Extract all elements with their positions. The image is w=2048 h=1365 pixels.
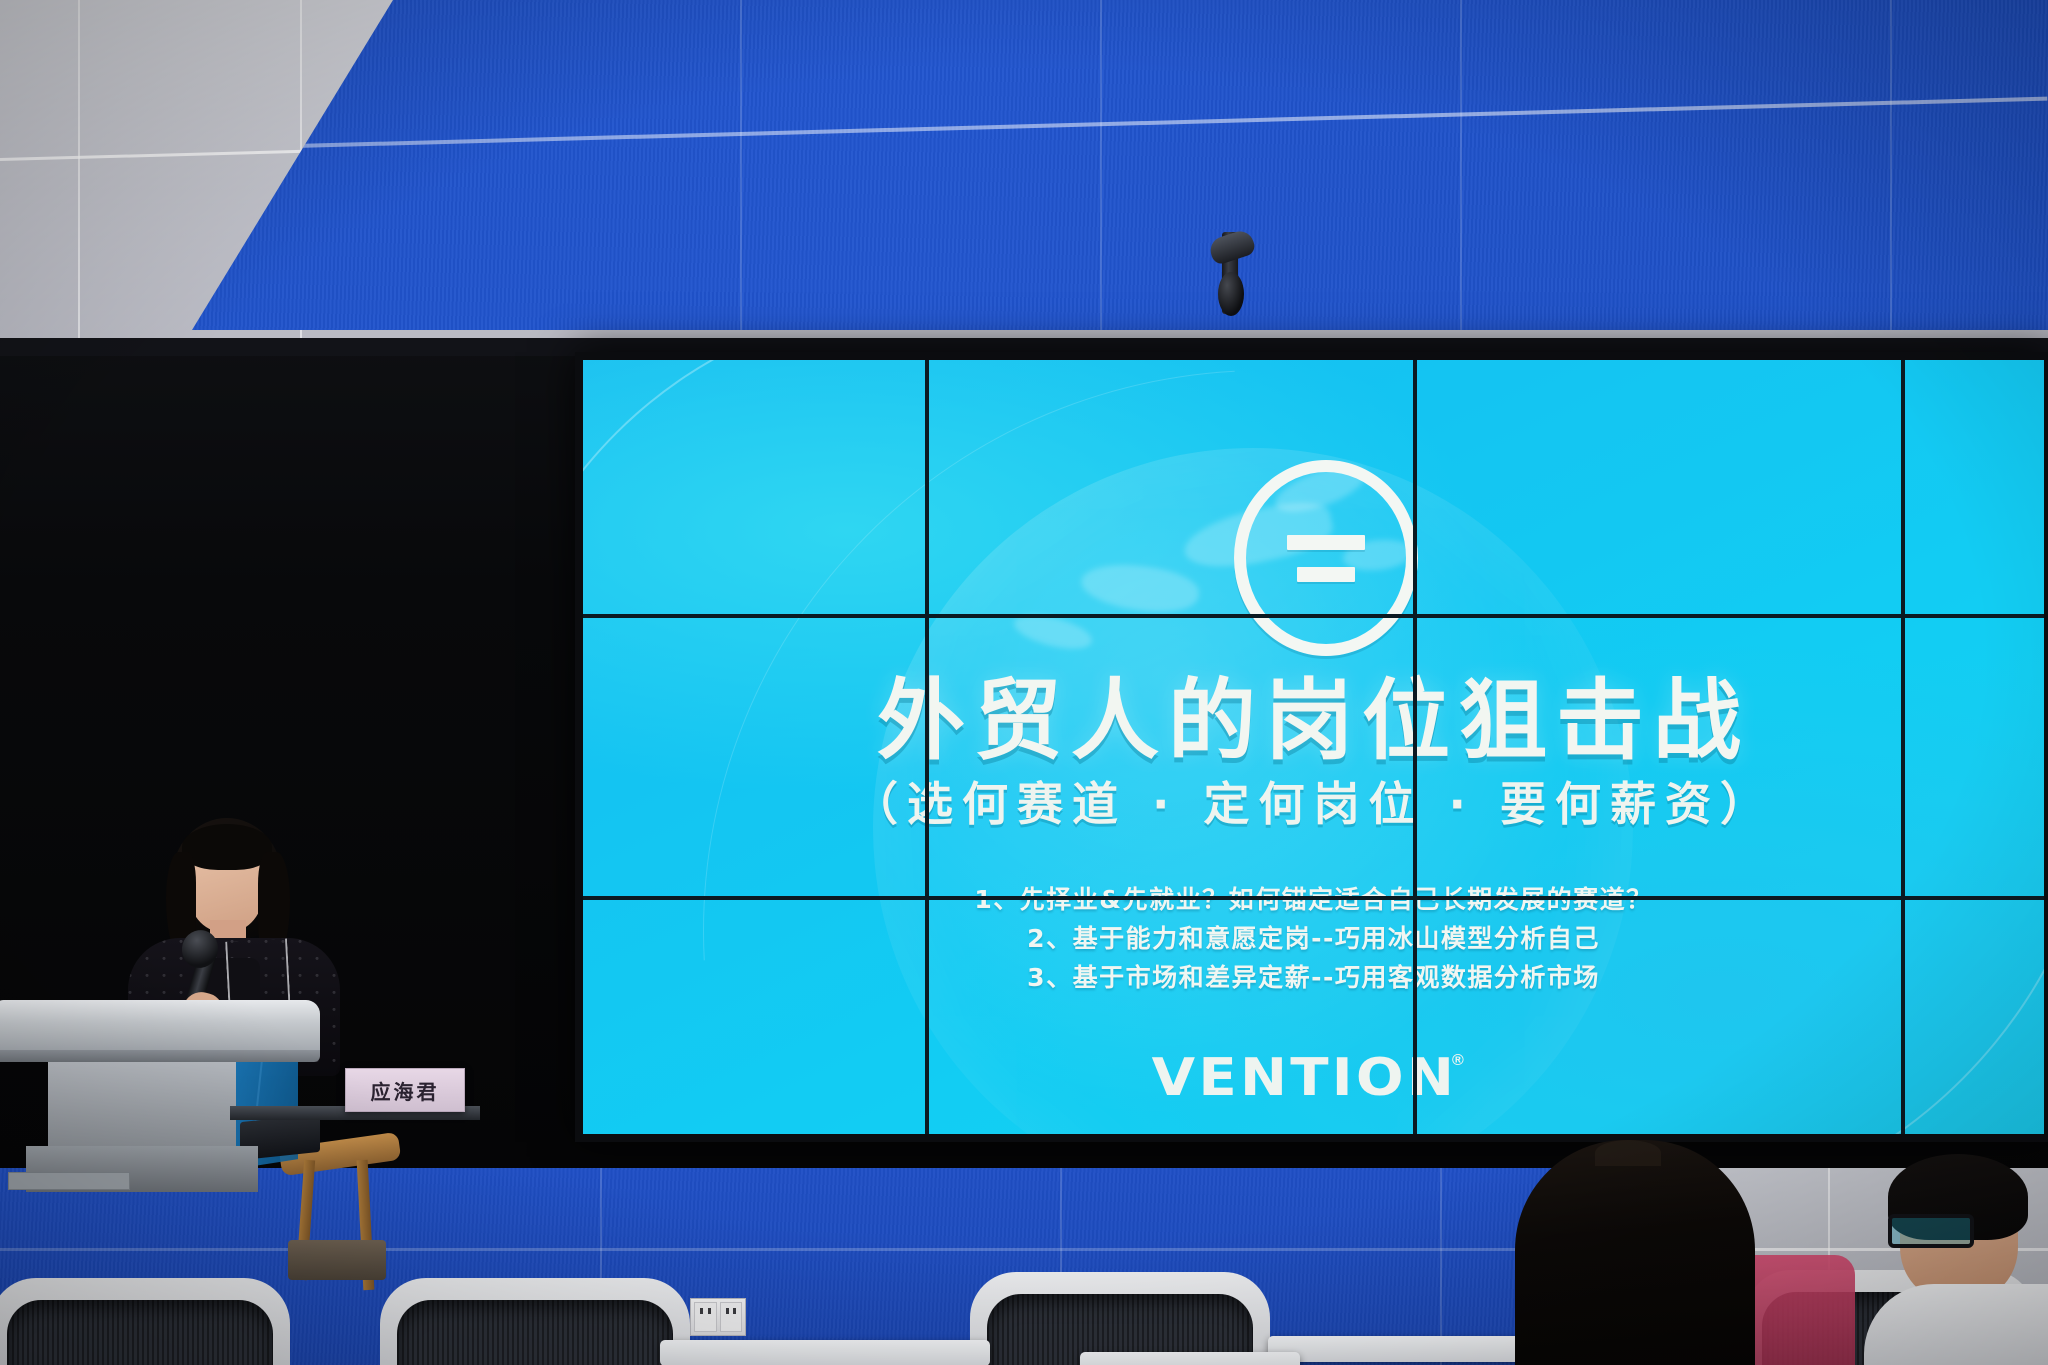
socket-outlet xyxy=(694,1302,717,1332)
conference-room-photo: 外贸人的岗位狙击战 （选何赛道 · 定何岗位 · 要何薪资） 1、先择业&先就业… xyxy=(0,0,2048,1365)
podium-top-surface xyxy=(0,1000,320,1056)
audience-person-long-hair xyxy=(1515,1140,1755,1365)
audience-chair xyxy=(380,1278,690,1365)
chair-mesh xyxy=(397,1300,673,1365)
audience-desk xyxy=(1080,1352,1300,1365)
audience-person-glasses xyxy=(1880,1168,2048,1365)
power-socket-icon xyxy=(690,1298,746,1336)
hair-part xyxy=(1595,1140,1661,1166)
panel-seam xyxy=(740,0,742,352)
socket-outlet xyxy=(720,1302,743,1332)
panel-seam xyxy=(1890,0,1892,352)
slide-bullet-2: 2、基于能力和意愿定岗--巧用冰山模型分析自己 xyxy=(583,919,2044,958)
chair-mesh xyxy=(7,1300,273,1365)
audience-desk xyxy=(660,1340,990,1365)
panel-seam xyxy=(1100,0,1102,352)
speaker-hair-front xyxy=(182,824,272,870)
name-placard-text: 应海君 xyxy=(371,1076,440,1105)
slide-headline: 外贸人的岗位狙击战 xyxy=(583,650,2044,777)
podium-top-edge xyxy=(0,1050,320,1062)
podium-column xyxy=(48,1060,236,1152)
camera-body xyxy=(1218,272,1244,316)
led-tile-seam xyxy=(583,614,2044,618)
podium xyxy=(0,1000,320,1185)
panel-seam xyxy=(1460,0,1462,352)
section-number-emblem xyxy=(1234,460,1418,656)
led-screen: 外贸人的岗位狙击战 （选何赛道 · 定何岗位 · 要何薪资） 1、先择业&先就业… xyxy=(583,360,2044,1134)
led-video-wall: 外贸人的岗位狙击战 （选何赛道 · 定何岗位 · 要何薪资） 1、先择业&先就业… xyxy=(575,352,2048,1142)
name-placard: 应海君 xyxy=(345,1068,465,1112)
emblem-stroke-upper xyxy=(1287,535,1365,550)
audience-shoulder xyxy=(1864,1284,2048,1365)
panel-seam xyxy=(78,0,80,352)
led-tile-seam xyxy=(925,360,929,1134)
ceiling-panel-wall xyxy=(0,0,2048,352)
led-tile-seam xyxy=(1413,360,1417,1134)
podium-front-plate xyxy=(8,1172,130,1190)
audience-chair xyxy=(0,1278,290,1365)
presentation-slide: 外贸人的岗位狙击战 （选何赛道 · 定何岗位 · 要何薪资） 1、先择业&先就业… xyxy=(583,360,2044,1134)
slide-bullet-3: 3、基于市场和差异定薪--巧用客观数据分析市场 xyxy=(583,958,2044,997)
slide-subheadline: （选何赛道 · 定何岗位 · 要何薪资） xyxy=(583,768,2044,834)
vention-logo: VENTION® xyxy=(583,1048,2044,1108)
vention-logo-text: VENTION xyxy=(1152,1048,1457,1108)
eyeglasses-icon xyxy=(1888,1214,1974,1248)
emblem-stroke-lower xyxy=(1297,567,1355,582)
led-tile-seam xyxy=(1901,360,1905,1134)
led-tile-seam xyxy=(583,896,2044,900)
wooden-chair-seat xyxy=(288,1240,386,1280)
